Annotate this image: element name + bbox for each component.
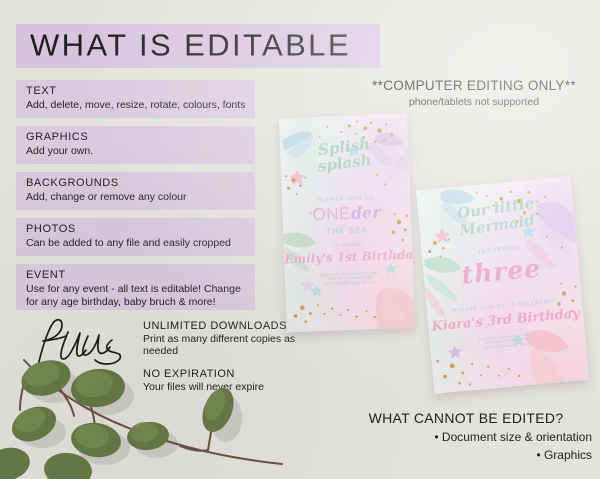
eucalyptus-sprig-decoration — [0, 352, 284, 479]
page-title-band: WHAT IS EDITABLE — [16, 24, 380, 68]
feature-band-backgrounds: BACKGROUNDS Add, change or remove any co… — [16, 172, 255, 210]
feature-detail: Add, change or remove any colour — [26, 191, 249, 204]
feature-band-text: TEXT Add, delete, move, resize, rotate, … — [16, 80, 255, 118]
feature-band-graphics: GRAPHICS Add your own. — [16, 126, 255, 164]
cannot-be-edited-block: WHAT CANNOT BE EDITED? • Document size &… — [340, 410, 592, 462]
feature-heading: PHOTOS — [26, 223, 76, 235]
computer-editing-subtitle: phone/tablets not supported — [356, 96, 592, 108]
card1-line4-a: ONE — [312, 204, 351, 224]
cannot-be-edited-title: WHAT CANNOT BE EDITED? — [340, 410, 592, 426]
feature-detail: Add your own. — [26, 145, 249, 158]
cannot-be-edited-item: • Document size & orientation — [340, 430, 592, 444]
editable-info-graphic: WHAT IS EDITABLE TEXT Add, delete, move,… — [0, 0, 600, 479]
computer-editing-notice: **COMPUTER EDITING ONLY** phone/tablets … — [356, 78, 592, 108]
card1-line4-b: der — [351, 203, 382, 223]
feature-heading: GRAPHICS — [26, 131, 88, 143]
feature-detail: Add, delete, move, resize, rotate, colou… — [26, 99, 249, 112]
mermaid-tail-icon — [375, 287, 415, 329]
feature-heading: BACKGROUNDS — [26, 177, 119, 189]
page-title: WHAT IS EDITABLE — [30, 27, 351, 63]
feature-detail: Use for any event - all text is editable… — [26, 283, 249, 308]
feature-band-photos: PHOTOS Can be added to any file and easi… — [16, 218, 255, 256]
feature-detail: Can be added to any file and easily crop… — [26, 237, 249, 250]
starfish-icon — [310, 285, 322, 297]
feature-band-event: EVENT Use for any event - all text is ed… — [16, 264, 255, 310]
cannot-be-edited-item: • Graphics — [340, 448, 592, 462]
feature-heading: EVENT — [26, 269, 66, 281]
our-little-mermaid-invitation-card: Our little Mermaid IS TURNING three PLEA… — [416, 176, 589, 393]
splish-splash-invitation-card: Splish splash PLEASE JOIN US ONEder THE … — [279, 114, 415, 333]
computer-editing-title: **COMPUTER EDITING ONLY** — [356, 78, 592, 93]
feature-heading: TEXT — [26, 85, 57, 97]
